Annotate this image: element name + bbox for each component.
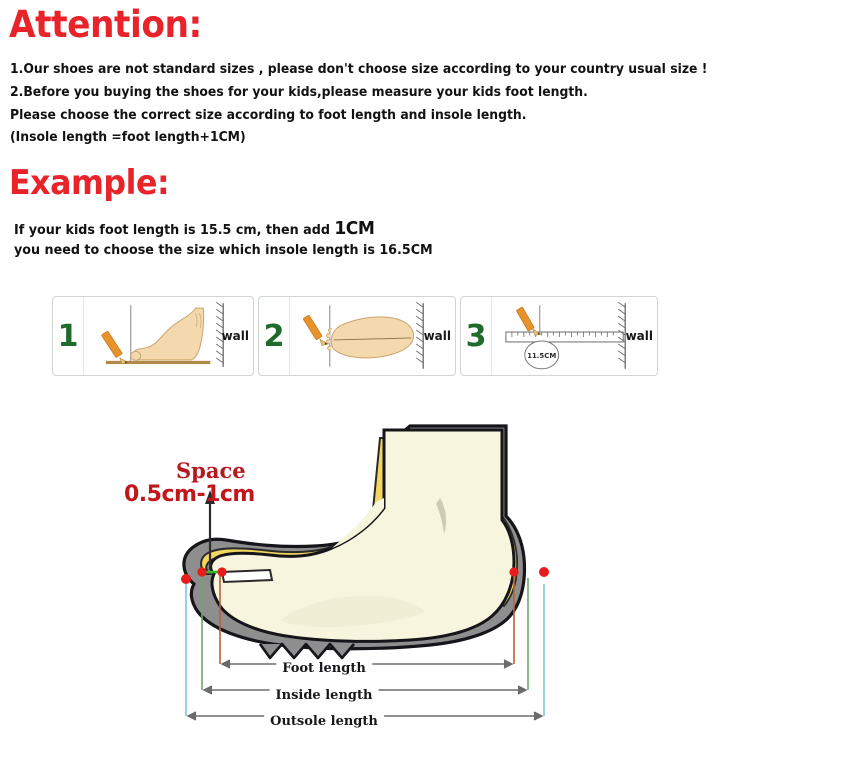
dimension-label-outsole-length: Outsole length xyxy=(264,714,384,729)
marker-dot xyxy=(197,567,206,576)
marker-dot xyxy=(181,574,191,584)
example-line-1-text: If your kids foot length is 15.5 cm, the… xyxy=(14,223,334,238)
attention-heading: Attention: xyxy=(9,6,202,43)
step-3-illustration: 11.5CM xyxy=(492,297,657,375)
step-panel-1: 1 xyxy=(52,296,254,376)
note-line-2: 2.Before you buying the shoes for your k… xyxy=(10,85,588,100)
pencil xyxy=(516,307,540,335)
step-panel-3: 3 xyxy=(460,296,658,376)
wall-label-2: wall xyxy=(424,329,451,343)
step-3-measurement-value: 11.5CM xyxy=(527,352,556,360)
space-label-word: Space xyxy=(176,458,246,483)
wall-label-3: wall xyxy=(626,329,653,343)
step-1-illustration: wall xyxy=(84,297,253,375)
step-panel-2: 2 xyxy=(258,296,456,376)
example-line-2: you need to choose the size which insole… xyxy=(14,243,433,258)
note-line-1: 1.Our shoes are not standard sizes , ple… xyxy=(10,62,707,77)
note-line-3: Please choose the correct size according… xyxy=(10,108,526,123)
step-number-2: 2 xyxy=(259,297,290,375)
size-guide-page: Attention: 1.Our shoes are not standard … xyxy=(0,0,845,772)
step-2-illustration: wall xyxy=(290,297,455,375)
step-number-1: 1 xyxy=(53,297,84,375)
marker-dot xyxy=(509,567,518,576)
step-number-3: 3 xyxy=(461,297,492,375)
pencil xyxy=(303,315,328,345)
measurement-steps: 1 xyxy=(52,296,658,376)
pencil xyxy=(101,331,127,364)
wall-label-1: wall xyxy=(222,329,249,343)
dimension-label-inside-length: Inside length xyxy=(270,688,379,703)
space-label-value: 0.5cm-1cm xyxy=(124,482,255,507)
marker-dot xyxy=(539,567,549,577)
example-line-1: If your kids foot length is 15.5 cm, the… xyxy=(14,218,374,239)
note-line-4: (Insole length =foot length+1CM) xyxy=(10,130,246,145)
example-add-unit: 1CM xyxy=(334,218,374,239)
marker-dot xyxy=(217,567,226,576)
example-heading: Example: xyxy=(9,166,169,200)
dimension-label-foot-length: Foot length xyxy=(276,661,372,676)
